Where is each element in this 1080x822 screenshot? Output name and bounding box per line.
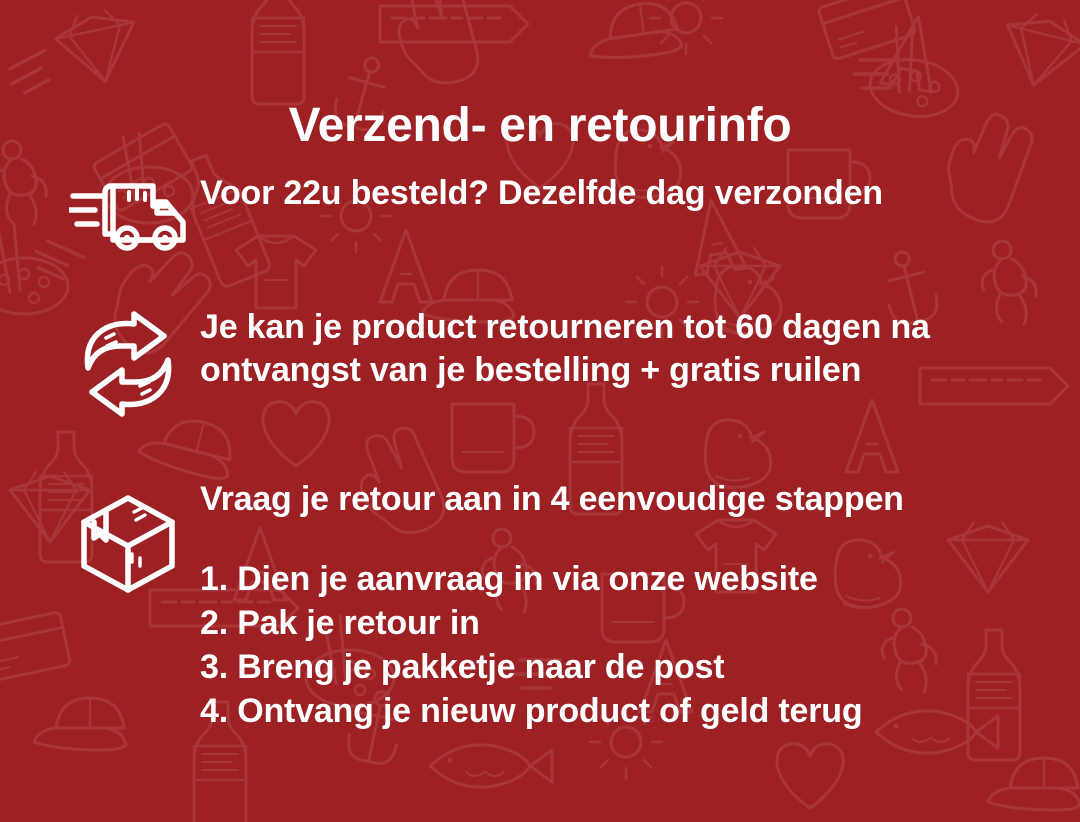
return-step-1: 1. Dien je aanvraag in via onze website <box>200 557 1046 601</box>
shipping-info-text: Voor 22u besteld? Dezelfde dag verzonden <box>200 172 1046 215</box>
return-step-2: 2. Pak je retour in <box>200 601 1046 645</box>
returns-info-row: Je kan je product retourneren tot 60 dag… <box>56 306 1046 418</box>
return-step-3: 3. Breng je pakketje naar de post <box>200 645 1046 689</box>
package-box-icon <box>56 478 200 596</box>
return-steps-list: 1. Dien je aanvraag in via onze website … <box>200 557 1046 733</box>
returns-info-text: Je kan je product retourneren tot 60 dag… <box>200 306 1046 392</box>
page-title: Verzend- en retourinfo <box>0 98 1080 153</box>
return-exchange-arrows-icon <box>56 306 200 418</box>
shipping-info-row: Voor 22u besteld? Dezelfde dag verzonden <box>56 172 1046 252</box>
return-steps-heading: Vraag je retour aan in 4 eenvoudige stap… <box>200 478 1046 521</box>
returns-info-line-2: ontvangst van je bestelling + gratis rui… <box>200 349 1046 392</box>
return-steps-text: Vraag je retour aan in 4 eenvoudige stap… <box>200 478 1046 733</box>
return-steps-row: Vraag je retour aan in 4 eenvoudige stap… <box>56 478 1046 733</box>
shipping-and-returns-banner: Verzend- en retourinfo Voor 22u <box>0 0 1080 822</box>
returns-info-line-1: Je kan je product retourneren tot 60 dag… <box>200 306 1046 349</box>
return-step-4: 4. Ontvang je nieuw product of geld teru… <box>200 689 1046 733</box>
delivery-truck-icon <box>56 172 200 252</box>
shipping-info-line-1: Voor 22u besteld? Dezelfde dag verzonden <box>200 172 1046 215</box>
